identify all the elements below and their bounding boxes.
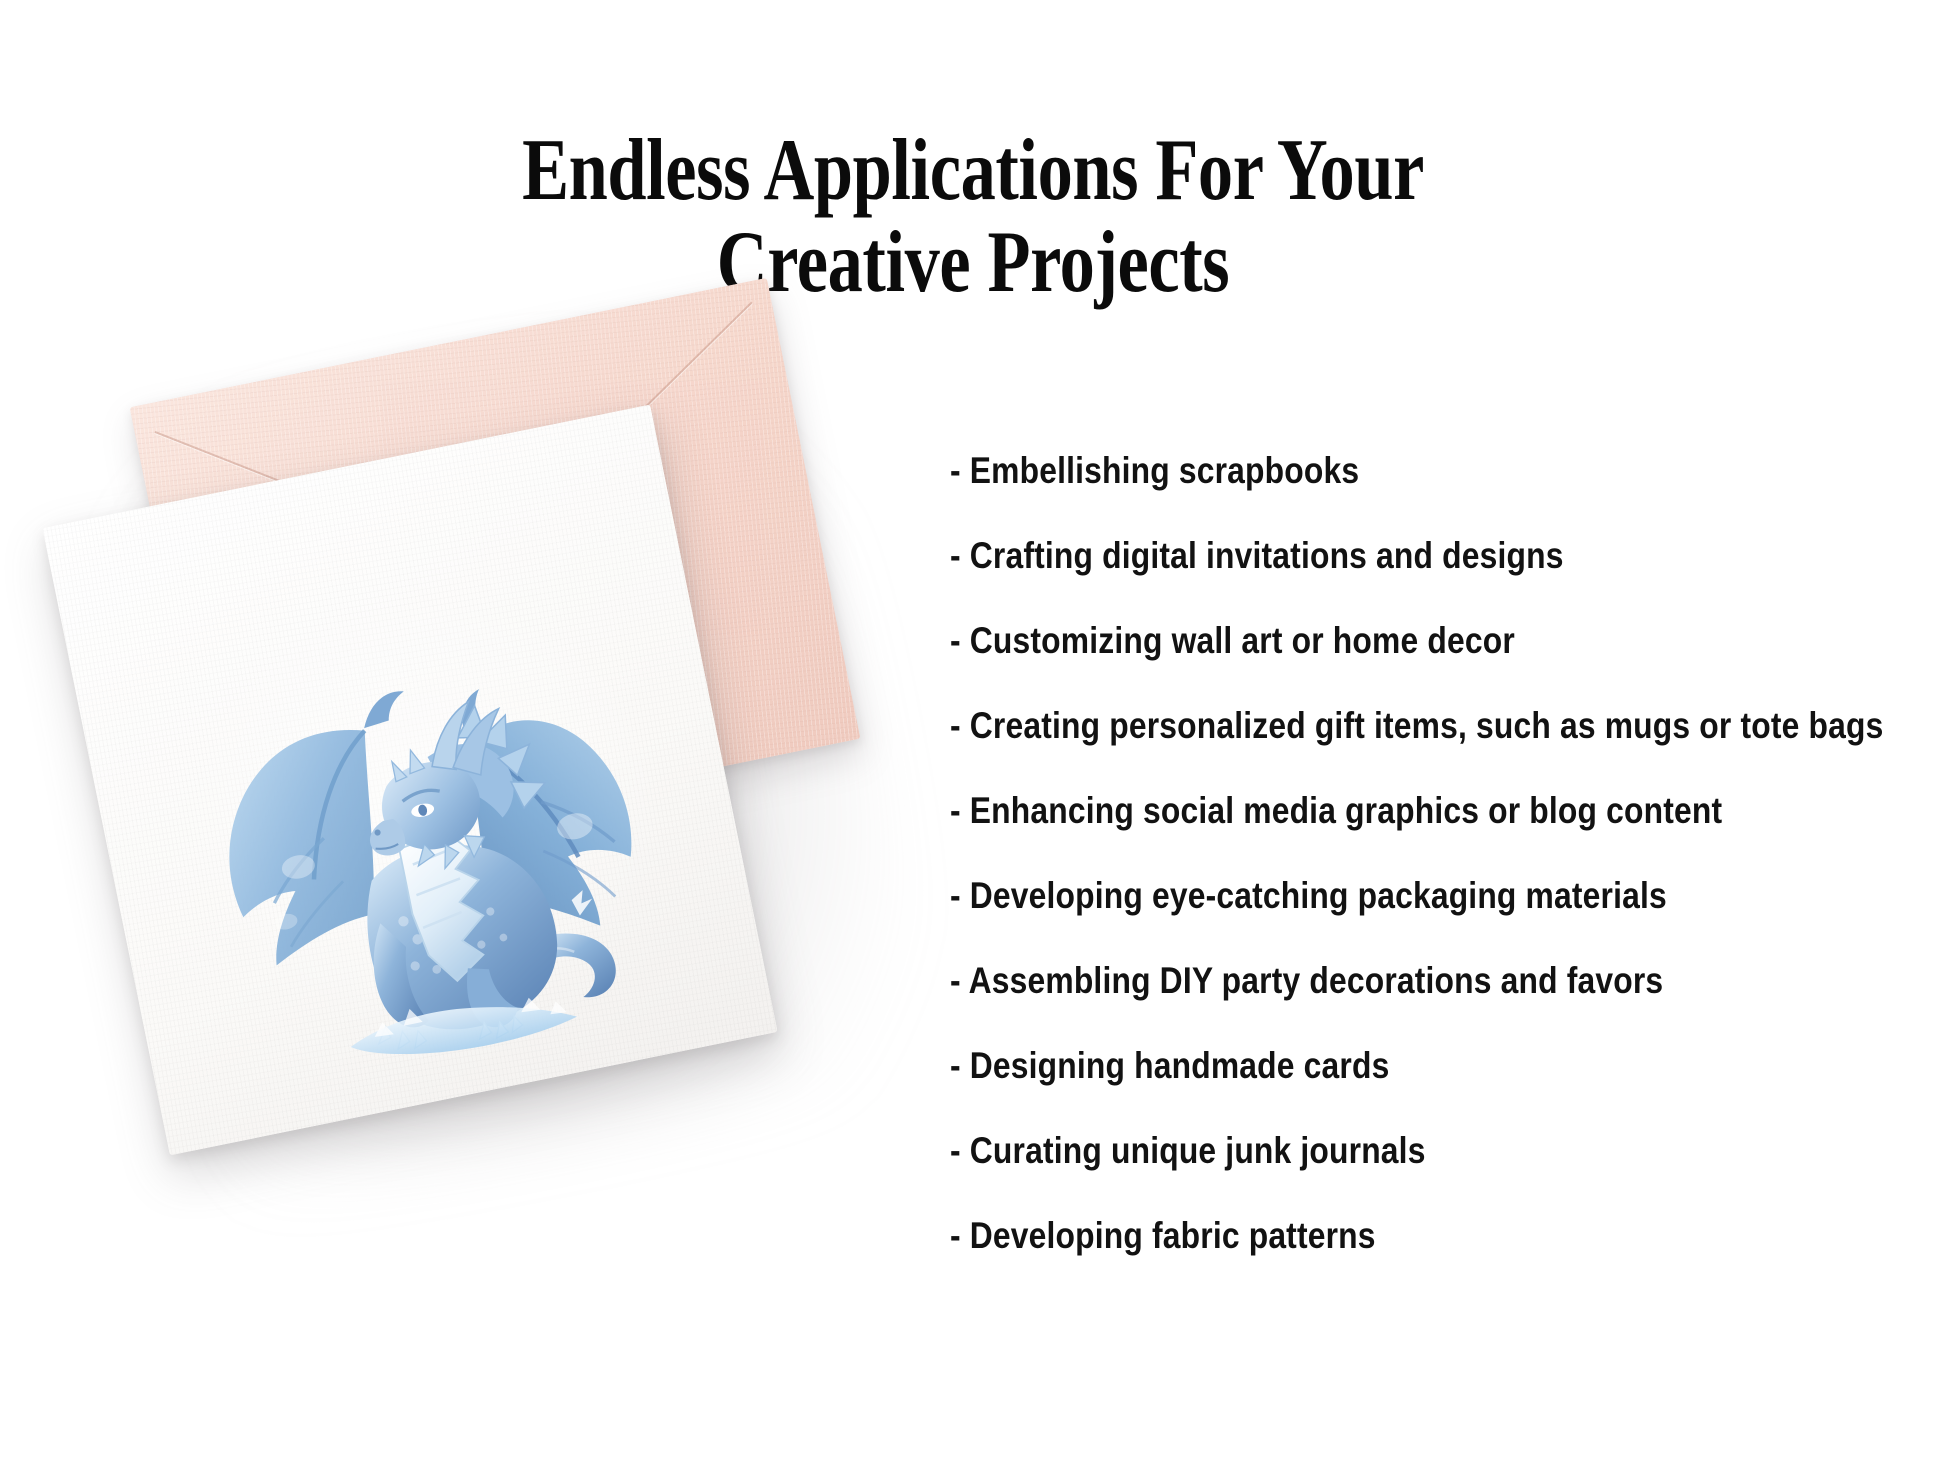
list-item: - Crafting digital invitations and desig…	[950, 537, 1793, 574]
list-item: - Developing eye-catching packaging mate…	[950, 877, 1793, 914]
blue-watercolor-dragon-icon	[88, 514, 761, 1132]
title-line-1: Endless Applications For Your	[195, 128, 1752, 214]
poster-canvas: Endless Applications For Your Creative P…	[0, 0, 1946, 1459]
list-item: - Embellishing scrapbooks	[950, 452, 1793, 489]
list-item: - Designing handmade cards	[950, 1047, 1793, 1084]
greeting-card	[42, 405, 777, 1156]
page-title: Endless Applications For Your Creative P…	[0, 128, 1946, 306]
list-item: - Curating unique junk journals	[950, 1132, 1793, 1169]
product-photo	[40, 300, 980, 1300]
list-item: - Assembling DIY party decorations and f…	[950, 962, 1793, 999]
list-item: - Creating personalized gift items, such…	[950, 707, 1793, 744]
list-item: - Developing fabric patterns	[950, 1217, 1793, 1254]
list-item: - Enhancing social media graphics or blo…	[950, 792, 1793, 829]
applications-list: - Embellishing scrapbooks - Crafting dig…	[950, 452, 1930, 1302]
title-line-2: Creative Projects	[195, 220, 1752, 306]
list-item: - Customizing wall art or home decor	[950, 622, 1793, 659]
